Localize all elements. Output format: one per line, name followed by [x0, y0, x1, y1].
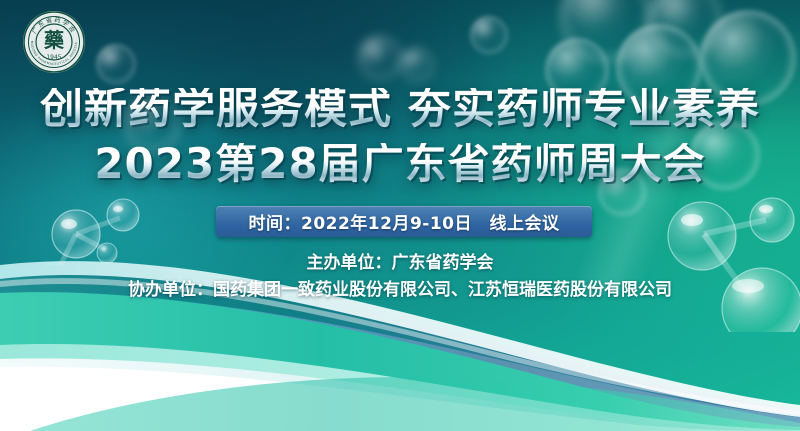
svg-text:藥: 藥: [43, 28, 65, 52]
title-line-1: 创新药学服务模式 夯实药师专业素养: [0, 88, 800, 131]
event-time-text: 时间：2022年12月9-10日 线上会议: [248, 209, 559, 234]
svg-text:1945: 1945: [46, 54, 61, 61]
host-organizer-line: 主办单位：广东省药学会: [0, 248, 800, 273]
association-logo: 广东省药学会 GUANGDONG PHARMACEUTICAL ASSOCIAT…: [22, 10, 86, 74]
event-time-bar: 时间：2022年12月9-10日 线上会议: [216, 206, 592, 237]
conference-banner: 广东省药学会 GUANGDONG PHARMACEUTICAL ASSOCIAT…: [0, 0, 800, 431]
cohost-organizer-line: 协办单位：国药集团一致药业股份有限公司、江苏恒瑞医药股份有限公司: [0, 275, 800, 300]
headline-block: 创新药学服务模式 夯实药师专业素养 2023第28届广东省药师周大会: [0, 88, 800, 185]
title-line-2: 2023第28届广东省药师周大会: [0, 143, 800, 185]
